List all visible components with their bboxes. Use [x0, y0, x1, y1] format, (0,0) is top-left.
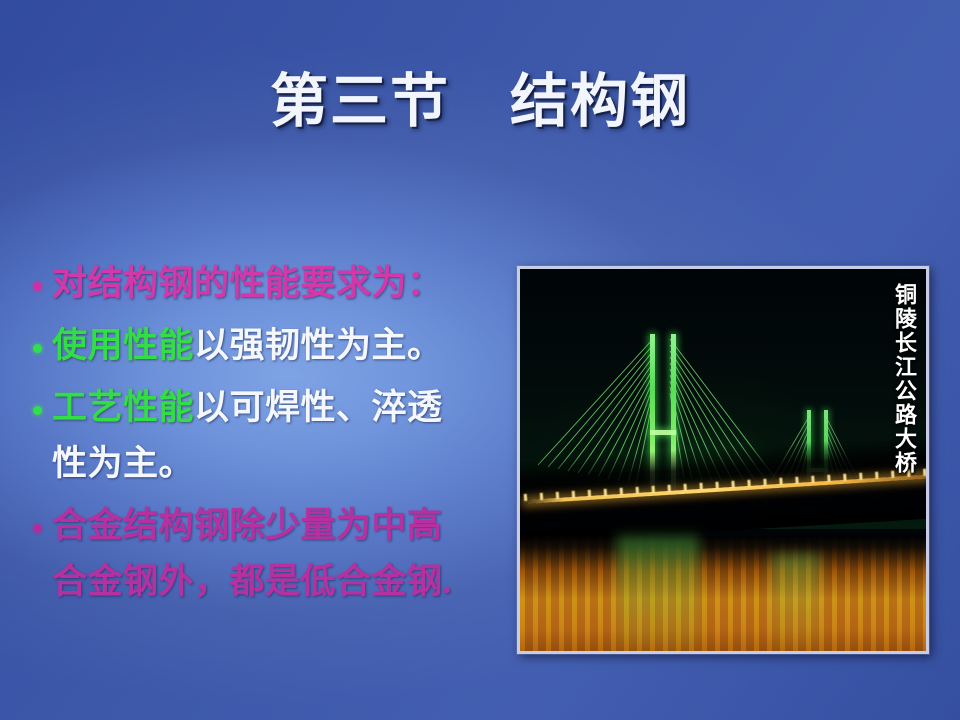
photo-caption: 铜陵长江公路大桥: [892, 283, 916, 475]
bullet-dot-magenta-icon: [22, 256, 52, 312]
list-item: 使用性能以强韧性为主。: [22, 318, 522, 374]
bullet-segment: 对结构钢的性能要求为：: [52, 264, 443, 303]
bullet-text: 使用性能以强韧性为主。: [52, 318, 522, 374]
bullet-segment-emphasis: 使用性能: [52, 326, 194, 365]
list-item: 合金结构钢除少量为中高 合金钢外，都是低合金钢.: [22, 498, 522, 610]
bullet-segment: 以可焊性、淬透: [194, 388, 443, 427]
bullet-text: 对结构钢的性能要求为：: [52, 256, 522, 312]
bullet-list: 对结构钢的性能要求为： 使用性能以强韧性为主。 工艺性能以可焊性、淬透 性为主。…: [22, 256, 522, 616]
bullet-segment-wrap: 合金钢外，都是低合金钢.: [52, 562, 452, 601]
bridge-night-photo: 铜陵长江公路大桥: [520, 269, 926, 651]
water-reflection-streaks: [520, 536, 926, 651]
page-title: 第三节 结构钢: [270, 72, 690, 133]
water-green-reflection: [617, 536, 698, 651]
bridge-photo-frame: 铜陵长江公路大桥: [517, 266, 929, 654]
bullet-segment: 以强韧性为主。: [194, 326, 443, 365]
bullet-dot-purple-icon: [22, 498, 52, 554]
bullet-dot-green-icon: [22, 318, 52, 374]
bullet-segment: 合金结构钢除少量为中高: [52, 506, 443, 545]
bullet-text: 工艺性能以可焊性、淬透 性为主。: [52, 380, 522, 492]
bullet-text: 合金结构钢除少量为中高 合金钢外，都是低合金钢.: [52, 498, 522, 610]
presentation-slide: 第三节 结构钢 对结构钢的性能要求为： 使用性能以强韧性为主。 工艺性能以可焊性…: [0, 0, 960, 720]
list-item: 对结构钢的性能要求为：: [22, 256, 522, 312]
bullet-dot-green-icon: [22, 380, 52, 436]
bullet-segment-wrap: 性为主。: [52, 444, 194, 483]
bullet-segment-emphasis: 工艺性能: [52, 388, 194, 427]
list-item: 工艺性能以可焊性、淬透 性为主。: [22, 380, 522, 492]
slide-title-container: 第三节 结构钢: [0, 72, 960, 133]
water-green-reflection-secondary: [772, 554, 821, 651]
water-surface: [520, 536, 926, 651]
